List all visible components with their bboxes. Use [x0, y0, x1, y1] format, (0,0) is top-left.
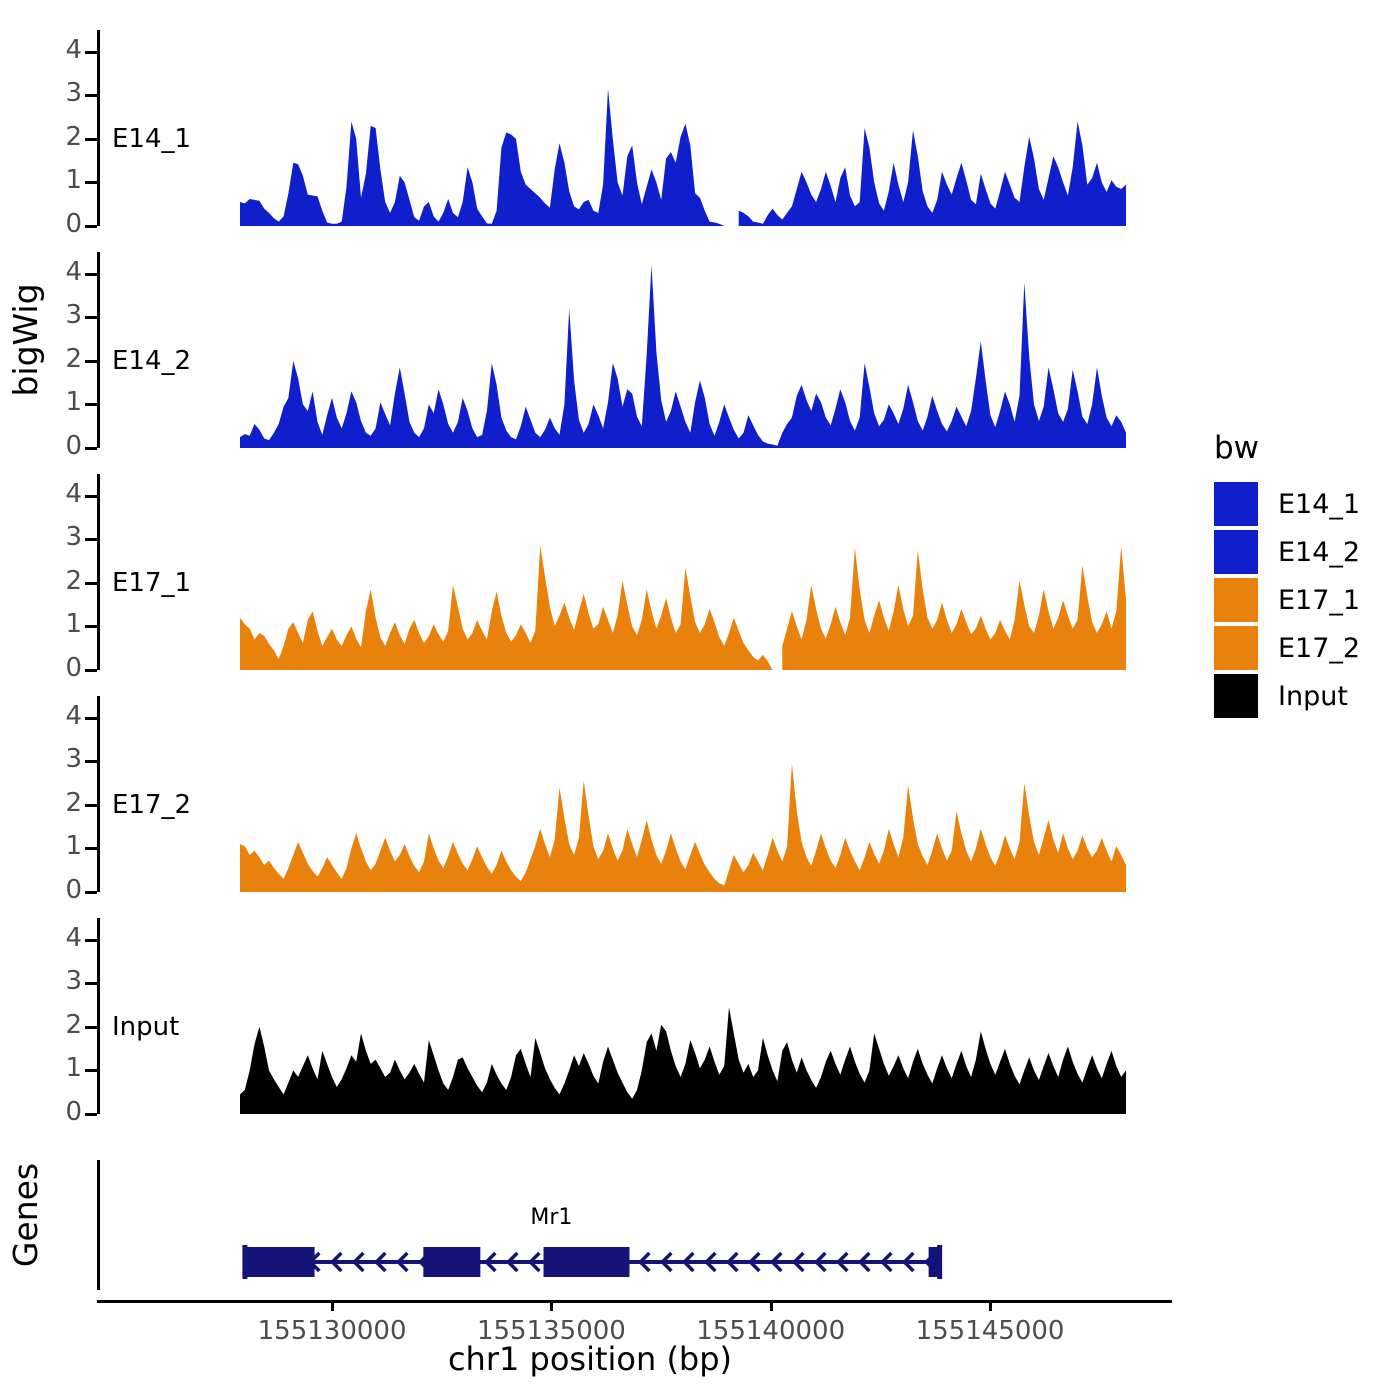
track-panel-input: 01234Input — [0, 0, 1400, 1400]
legend-label: E14_2 — [1278, 537, 1360, 568]
x-tick-label: 155140000 — [671, 1316, 871, 1346]
y-tick-label: 3 — [42, 968, 82, 994]
legend-item-e17_1[interactable]: E17_1 — [1214, 576, 1360, 624]
x-tick-label: 155145000 — [890, 1316, 1090, 1346]
x-tick-label: 155130000 — [232, 1316, 432, 1346]
legend: bw E14_1E14_2E17_1E17_2Input — [1214, 430, 1360, 720]
x-tick — [331, 1300, 334, 1311]
legend-title: bw — [1214, 430, 1360, 466]
legend-swatch-e14_2 — [1214, 530, 1258, 574]
gene-label: Mr1 — [451, 1205, 651, 1230]
legend-items: E14_1E14_2E17_1E17_2Input — [1214, 480, 1360, 720]
y-tick — [85, 1113, 97, 1116]
y-tick-label: 0 — [42, 1099, 82, 1125]
y-tick — [85, 1069, 97, 1072]
legend-label: E17_1 — [1278, 585, 1360, 616]
legend-swatch-e14_1 — [1214, 482, 1258, 526]
legend-swatch-e17_2 — [1214, 626, 1258, 670]
plot-root: bigWig Genes chr1 position (bp) 01234E14… — [0, 0, 1400, 1400]
legend-swatch-e17_1 — [1214, 578, 1258, 622]
legend-label: Input — [1278, 681, 1348, 712]
genes-axis-line — [97, 1160, 100, 1290]
x-tick — [989, 1300, 992, 1311]
y-tick-label: 2 — [42, 1012, 82, 1038]
legend-swatch-input — [1214, 674, 1258, 718]
x-tick-label: 155135000 — [451, 1316, 651, 1346]
y-tick — [85, 1026, 97, 1029]
legend-label: E17_2 — [1278, 633, 1360, 664]
legend-item-e14_1[interactable]: E14_1 — [1214, 480, 1360, 528]
legend-item-e17_2[interactable]: E17_2 — [1214, 624, 1360, 672]
x-tick — [550, 1300, 553, 1311]
y-tick — [85, 939, 97, 942]
track-label-input: Input — [112, 1012, 179, 1042]
legend-item-e14_2[interactable]: E14_2 — [1214, 528, 1360, 576]
legend-label: E14_1 — [1278, 489, 1360, 520]
y-tick-label: 1 — [42, 1055, 82, 1081]
y-tick-label: 4 — [42, 925, 82, 951]
y-tick — [85, 982, 97, 985]
legend-item-input[interactable]: Input — [1214, 672, 1360, 720]
coverage-area-input — [0, 0, 1400, 1400]
x-tick — [770, 1300, 773, 1311]
x-axis-line — [97, 1300, 1172, 1303]
y-axis-line — [97, 918, 100, 1114]
